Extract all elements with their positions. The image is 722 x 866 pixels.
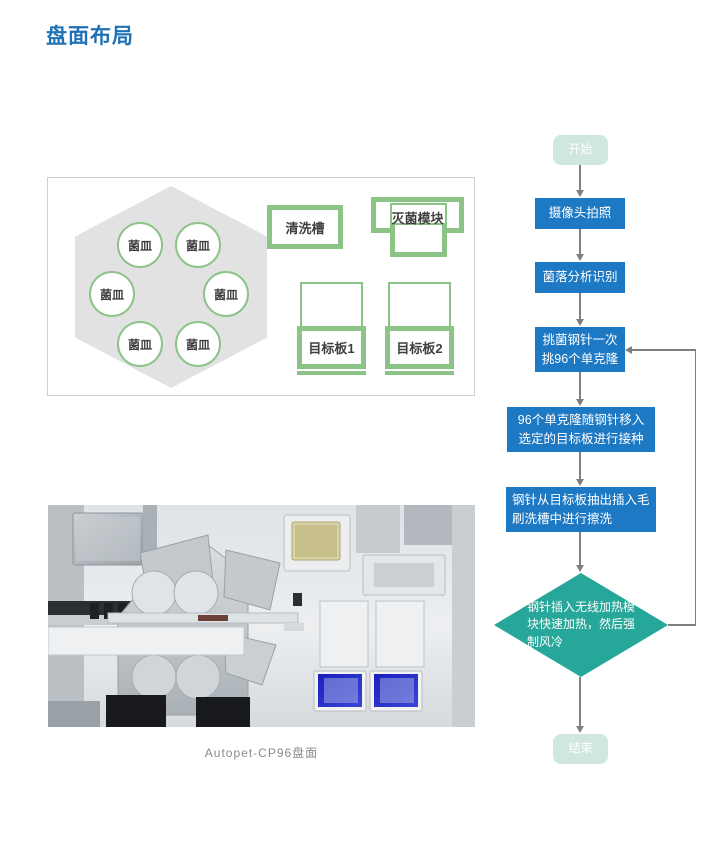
arrow-analysis-to-pick <box>579 293 581 322</box>
flow-end[interactable]: 结束 <box>553 734 608 764</box>
flow-step-inoculate-line2: 选定的目标板进行接种 <box>518 430 643 448</box>
flow-step-brush-wash-line2: 刷洗槽中进行擦洗 <box>512 510 612 528</box>
flow-step-camera[interactable]: 摄像头拍照 <box>535 198 625 229</box>
flow-start[interactable]: 开始 <box>553 135 608 165</box>
flow-step-heat-cool-line2: 块快速加热，然后强 <box>527 616 635 633</box>
arrow-head-3 <box>576 319 584 326</box>
loop-arrow-segment-right <box>695 349 697 625</box>
flow-step-heat-cool-line3: 制风冷 <box>527 634 635 651</box>
target-plate-2-upper-frame <box>388 282 451 331</box>
flow-step-pick-96[interactable]: 挑菌钢针一次 挑96个单克隆 <box>535 327 625 372</box>
petri-dish-3[interactable]: 菌皿 <box>89 271 135 317</box>
arrow-wash-to-heat <box>579 532 581 568</box>
flow-step-brush-wash-line1: 钢针从目标板抽出插入毛 <box>512 491 650 509</box>
sterilize-module-label[interactable]: 灭菌模块 <box>371 205 464 229</box>
deck-photo-image <box>48 505 475 727</box>
target-plate-1-upper-frame <box>300 282 363 331</box>
loop-arrow-segment-top <box>632 349 695 351</box>
flow-step-heat-cool[interactable]: 钢针插入无线加热模 块快速加热，然后强 制风冷 <box>494 573 668 677</box>
arrow-head-6 <box>576 565 584 572</box>
flow-step-heat-cool-text: 钢针插入无线加热模 块快速加热，然后强 制风冷 <box>501 599 661 651</box>
petri-dish-1[interactable]: 菌皿 <box>117 222 163 268</box>
flow-step-brush-wash[interactable]: 钢针从目标板抽出插入毛 刷洗槽中进行擦洗 <box>506 487 656 532</box>
petri-dish-4[interactable]: 菌皿 <box>203 271 249 317</box>
flow-step-pick-96-line1: 挑菌钢针一次 <box>542 331 617 349</box>
arrow-pick-to-inoculate <box>579 372 581 402</box>
flow-step-inoculate-line1: 96个单克隆随钢针移入 <box>518 411 644 429</box>
loop-arrow-head <box>625 346 632 354</box>
photo-caption: Autopet-CP96盘面 <box>48 744 475 761</box>
target-plate-2[interactable]: 目标板2 <box>385 326 454 369</box>
arrow-head-1 <box>576 190 584 197</box>
flow-step-inoculate[interactable]: 96个单克隆随钢针移入 选定的目标板进行接种 <box>507 407 655 452</box>
arrow-start-to-camera <box>579 165 581 193</box>
flow-step-pick-96-line2: 挑96个单克隆 <box>542 350 618 368</box>
petri-dish-2[interactable]: 菌皿 <box>175 222 221 268</box>
deck-photo <box>48 505 475 727</box>
arrow-head-2 <box>576 254 584 261</box>
target-plate-1-foot <box>297 371 366 375</box>
target-plate-2-foot <box>385 371 454 375</box>
arrow-head-4 <box>576 399 584 406</box>
petri-dish-5[interactable]: 菌皿 <box>117 321 163 367</box>
flow-step-colony-analysis[interactable]: 菌落分析识别 <box>535 262 625 293</box>
arrow-heat-to-end <box>579 677 581 729</box>
process-flowchart: 开始 摄像头拍照 菌落分析识别 挑菌钢针一次 挑96个单克隆 96个单克隆随钢针… <box>480 120 722 820</box>
page-title: 盘面布局 <box>46 20 134 50</box>
arrow-head-5 <box>576 479 584 486</box>
arrow-camera-to-analysis <box>579 229 581 257</box>
flow-step-heat-cool-line1: 钢针插入无线加热模 <box>527 599 635 616</box>
deck-layout-panel: 菌皿 菌皿 菌皿 菌皿 菌皿 菌皿 清洗槽 灭菌模块 目标板1 目标板2 <box>47 177 475 396</box>
arrow-inoculate-to-wash <box>579 452 581 482</box>
petri-dish-6[interactable]: 菌皿 <box>175 321 221 367</box>
target-plate-1[interactable]: 目标板1 <box>297 326 366 369</box>
arrow-head-7 <box>576 726 584 733</box>
loop-arrow-segment-bottom <box>668 624 696 626</box>
wash-tank-module[interactable]: 清洗槽 <box>267 205 343 249</box>
